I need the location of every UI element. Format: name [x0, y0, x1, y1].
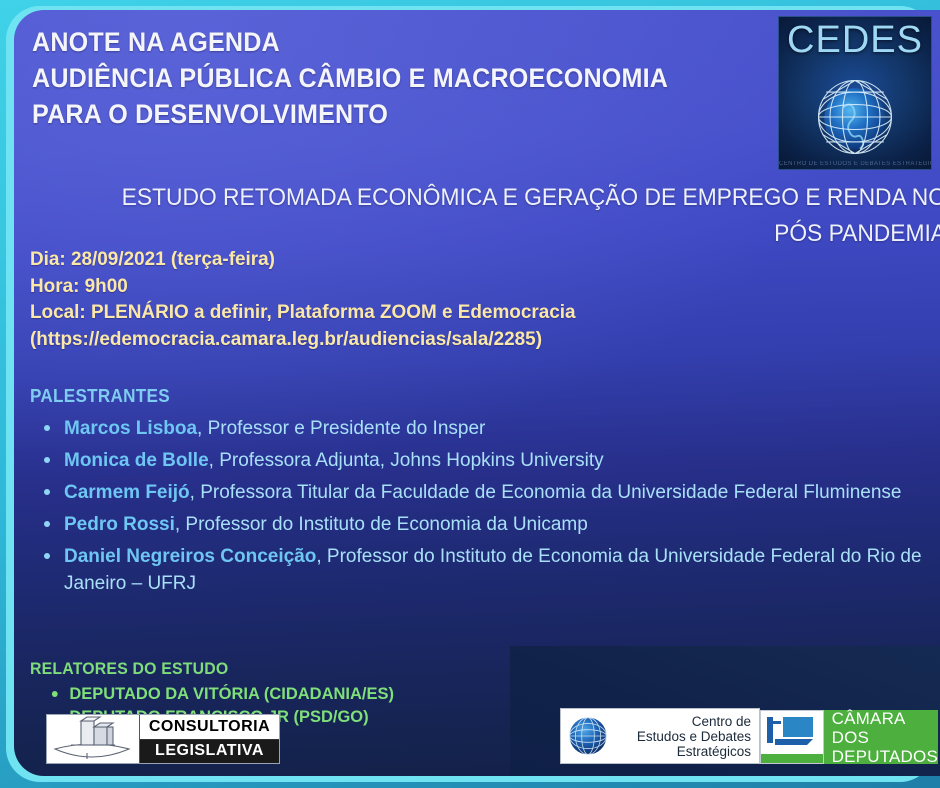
reporters-heading: RELATORES DO ESTUDO [30, 660, 228, 679]
cedes-bottom-line-1: Centro de [615, 714, 751, 729]
speaker-description: , Professor e Presidente do Insper [197, 418, 485, 439]
list-item: Pedro Rossi, Professor do Instituto de E… [38, 511, 938, 538]
bullet-icon [44, 457, 50, 463]
poster-content-panel: ANOTE NA AGENDA AUDIÊNCIA PÚBLICA CÂMBIO… [14, 10, 940, 776]
speaker-name: Monica de Bolle [64, 450, 209, 471]
camara-line-2: DEPUTADOS [832, 747, 938, 766]
bullet-icon [44, 425, 50, 431]
list-item: Monica de Bolle, Professora Adjunta, Joh… [38, 447, 938, 474]
title-line-2: AUDIÊNCIA PÚBLICA CÂMBIO E MACROECONOMIA [32, 60, 739, 96]
list-item: Carmem Feijó, Professora Titular da Facu… [38, 479, 938, 506]
speaker-description: , Professora Titular da Faculdade de Eco… [190, 482, 902, 503]
speakers-heading: PALESTRANTES [30, 386, 170, 407]
consultoria-label: CONSULTORIA [140, 715, 279, 740]
legislativa-label: LEGISLATIVA [140, 740, 279, 764]
speaker-description: , Professor do Instituto de Economia da … [175, 514, 588, 535]
cedes-bottom-line-3: Estratégicos [615, 744, 751, 759]
title-line-3: PARA O DESENVOLVIMENTO [32, 96, 739, 132]
cedes-bottom-text: Centro de Estudos e Debates Estratégicos [615, 714, 759, 759]
speakers-list: Marcos Lisboa, Professor e Presidente do… [38, 415, 938, 602]
camara-text: CÂMARA DOS DEPUTADOS [824, 710, 938, 764]
poster-subtitle: ESTUDO RETOMADA ECONÔMICA E GERAÇÃO DE E… [110, 180, 940, 252]
globe-icon [807, 69, 903, 170]
list-item: Daniel Negreiros Conceição, Professor do… [38, 543, 938, 597]
poster-title: ANOTE NA AGENDA AUDIÊNCIA PÚBLICA CÂMBIO… [32, 24, 792, 132]
speaker-name: Pedro Rossi [64, 514, 175, 535]
list-item: DEPUTADO DA VITÓRIA (CIDADANIA/ES) [48, 682, 630, 705]
speaker-name: Daniel Negreiros Conceição [64, 546, 316, 567]
globe-icon [561, 715, 615, 757]
camara-dos-deputados-logo: CÂMARA DOS DEPUTADOS [760, 710, 938, 764]
cedes-logo: CEDES [778, 16, 932, 170]
bullet-icon [44, 521, 50, 527]
event-poster: ANOTE NA AGENDA AUDIÊNCIA PÚBLICA CÂMBIO… [0, 0, 940, 788]
cedes-bottom-line-2: Estudos e Debates [615, 729, 751, 744]
bullet-icon [44, 553, 50, 559]
cedes-wordmark: CEDES [779, 19, 931, 62]
bullet-icon [52, 691, 58, 697]
reporter-name: DEPUTADO DA VITÓRIA (CIDADANIA/ES) [69, 684, 394, 703]
speaker-description: , Professora Adjunta, Johns Hopkins Univ… [209, 450, 604, 471]
camara-line-1: CÂMARA DOS [832, 709, 938, 747]
list-item: Marcos Lisboa, Professor e Presidente do… [38, 415, 938, 442]
cedes-bottom-logo: Centro de Estudos e Debates Estratégicos [560, 708, 760, 764]
camara-green-bar [761, 754, 823, 763]
detail-time: Hora: 9h00 [30, 273, 903, 300]
speaker-name: Marcos Lisboa [64, 418, 197, 439]
cedes-tagline: CENTRO DE ESTUDOS E DEBATES ESTRATÉGICOS [779, 161, 931, 167]
title-line-1: ANOTE NA AGENDA [32, 24, 739, 60]
speaker-name: Carmem Feijó [64, 482, 190, 503]
event-details: Dia: 28/09/2021 (terça-feira) Hora: 9h00… [30, 246, 903, 352]
congress-building-icon [47, 715, 140, 763]
detail-location: Local: PLENÁRIO a definir, Plataforma ZO… [30, 299, 903, 326]
bullet-icon [44, 489, 50, 495]
consultoria-text: CONSULTORIA LEGISLATIVA [140, 715, 279, 763]
consultoria-legislativa-logo: CONSULTORIA LEGISLATIVA [46, 714, 280, 764]
detail-date: Dia: 28/09/2021 (terça-feira) [30, 246, 903, 273]
detail-url[interactable]: (https://edemocracia.camara.leg.br/audie… [30, 326, 903, 353]
camara-building-icon [760, 710, 824, 764]
